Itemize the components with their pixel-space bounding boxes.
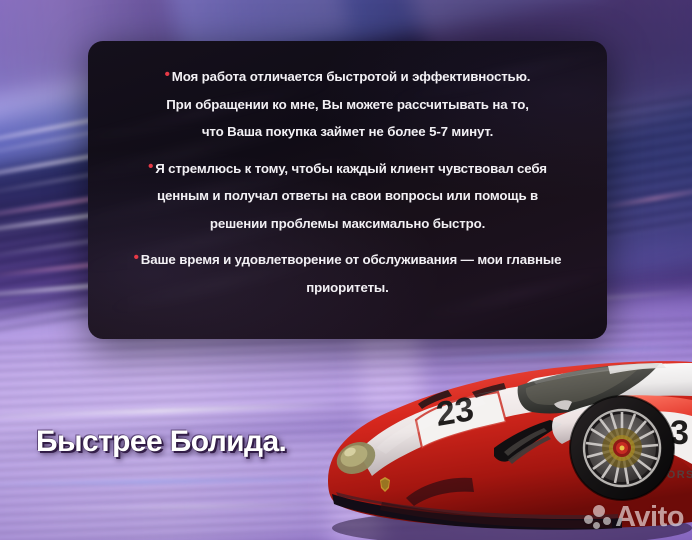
quote-line: ценным и получал ответы на свои вопросы … [106, 182, 589, 210]
quote-line: •Моя работа отличается быстротой и эффек… [106, 63, 589, 91]
quote-line: •Ваше время и удовлетворение от обслужив… [106, 246, 589, 274]
quote-card-body: •Моя работа отличается быстротой и эффек… [88, 41, 607, 301]
avito-dots-icon [584, 505, 610, 531]
avito-watermark: Avito [584, 503, 684, 532]
quote-card: •Моя работа отличается быстротой и эффек… [88, 41, 607, 339]
quote-paragraph: •Ваше время и удовлетворение от обслужив… [106, 246, 589, 301]
quote-line: При обращении ко мне, Вы можете рассчиты… [106, 91, 589, 119]
quote-line-text: приоритеты. [306, 280, 388, 295]
quote-line-text: решении проблемы максимально быстро. [210, 216, 485, 231]
quote-line-text: ценным и получал ответы на свои вопросы … [157, 188, 538, 203]
quote-line: решении проблемы максимально быстро. [106, 210, 589, 238]
headline-text: Быстрее Болида. [36, 425, 286, 459]
avito-brand-text: Avito [615, 503, 684, 532]
quote-line: что Ваша покупка займет не более 5-7 мин… [106, 118, 589, 146]
quote-paragraph: •Я стремлюсь к тому, чтобы каждый клиент… [106, 155, 589, 238]
bullet-icon: • [148, 158, 153, 175]
quote-line: •Я стремлюсь к тому, чтобы каждый клиент… [106, 155, 589, 183]
bullet-icon: • [165, 66, 170, 83]
advertisement-image: 23 [0, 0, 692, 540]
quote-line-text: Ваше время и удовлетворение от обслужива… [141, 252, 562, 267]
bullet-icon: • [134, 249, 139, 266]
quote-line-text: Я стремлюсь к тому, чтобы каждый клиент … [155, 161, 547, 176]
quote-paragraph: •Моя работа отличается быстротой и эффек… [106, 63, 589, 146]
quote-line: приоритеты. [106, 274, 589, 302]
quote-line-text: При обращении ко мне, Вы можете рассчиты… [166, 97, 529, 112]
quote-line-text: что Ваша покупка займет не более 5-7 мин… [202, 124, 493, 139]
quote-line-text: Моя работа отличается быстротой и эффект… [172, 69, 531, 84]
